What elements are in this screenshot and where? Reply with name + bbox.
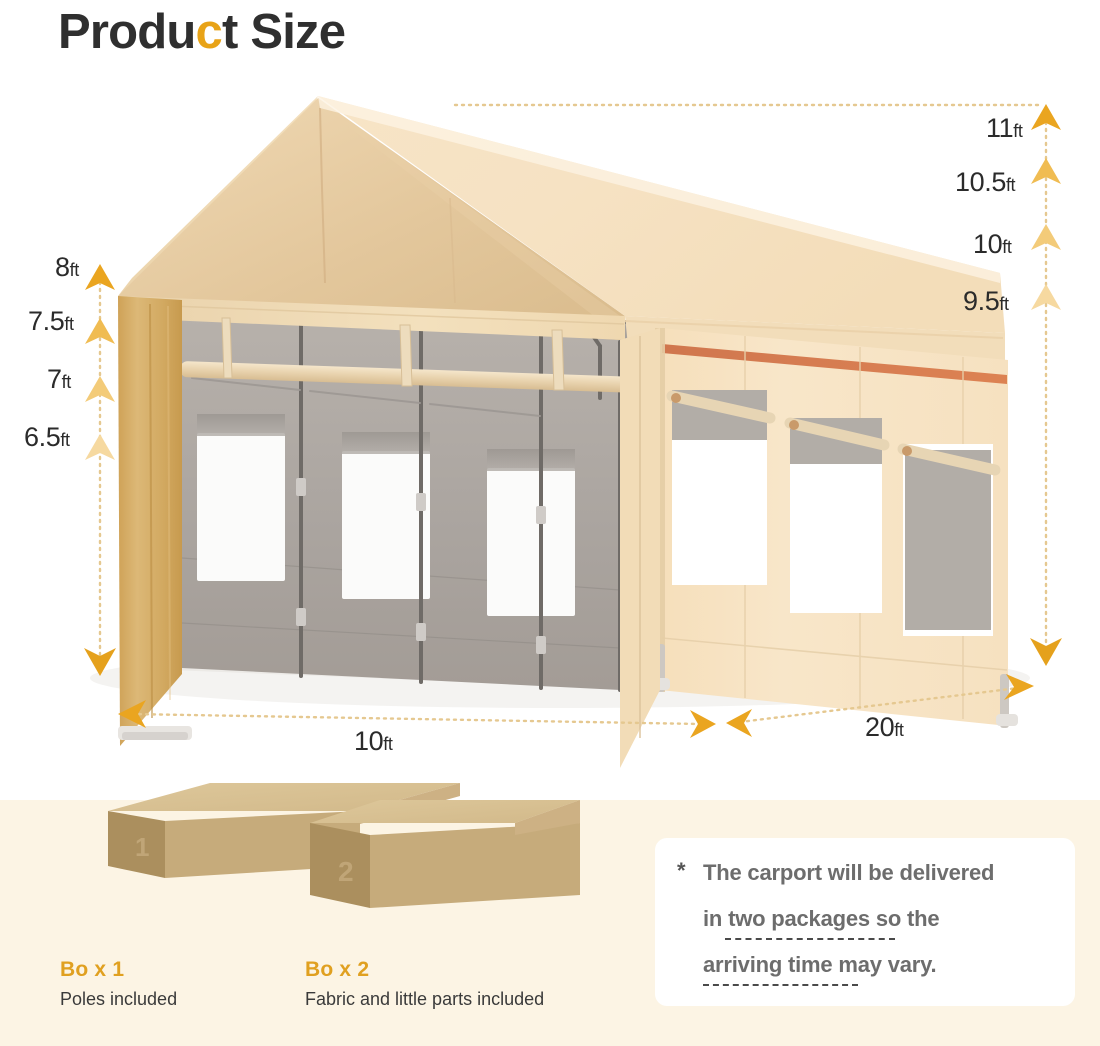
title-suffix: t Size: [222, 5, 345, 59]
dimension-value: 7ft: [47, 364, 71, 394]
note-underline-1: [725, 938, 895, 940]
dimension-label-7-5ft: 7.5ft: [28, 306, 74, 337]
dimension-label-width-10ft: 10ft: [354, 726, 392, 757]
dimension-value: 8ft: [55, 252, 79, 282]
title-accent-letter: c: [196, 5, 222, 59]
dimension-value: 7.5ft: [28, 306, 74, 336]
dimension-value: 9.5ft: [963, 286, 1009, 316]
dimension-value: 6.5ft: [24, 422, 70, 452]
note-line-3: arriving time may vary.: [703, 952, 936, 978]
box2-subtitle: Fabric and little parts included: [305, 989, 544, 1010]
note-line-1: The carport will be delivered: [703, 860, 994, 886]
dimension-label-10-5ft: 10.5ft: [955, 167, 1015, 198]
dimension-label-9-5ft: 9.5ft: [963, 286, 1009, 317]
dimension-value: 11ft: [986, 113, 1022, 143]
box1-title: Bo x 1: [60, 958, 124, 982]
svg-text:1: 1: [135, 832, 149, 862]
dimension-value: 10ft: [354, 726, 392, 756]
title-prefix: Produ: [58, 5, 196, 59]
dimension-value: 10.5ft: [955, 167, 1015, 197]
carport-illustration: [0, 78, 1100, 778]
asterisk-icon: *: [677, 860, 686, 882]
dimension-label-7ft: 7ft: [47, 364, 71, 395]
svg-text:2: 2: [338, 856, 354, 887]
dimension-value: 10ft: [973, 229, 1011, 259]
boxes-illustration: 1 2: [60, 778, 660, 948]
page-title: Product Size: [58, 4, 345, 60]
note-underline-2: [703, 984, 858, 986]
dimension-label-10ft: 10ft: [973, 229, 1011, 260]
box1-subtitle: Poles included: [60, 989, 177, 1010]
product-size-infographic: Product Size: [0, 0, 1100, 1046]
dimension-value: 20ft: [865, 712, 903, 742]
box2-title: Bo x 2: [305, 958, 369, 982]
delivery-note-card: * The carport will be delivered in two p…: [655, 838, 1075, 1006]
dimension-label-8ft: 8ft: [55, 252, 79, 283]
dimension-label-depth-20ft: 20ft: [865, 712, 903, 743]
dimension-label-6-5ft: 6.5ft: [24, 422, 70, 453]
note-line-2: in two packages so the: [703, 906, 939, 932]
